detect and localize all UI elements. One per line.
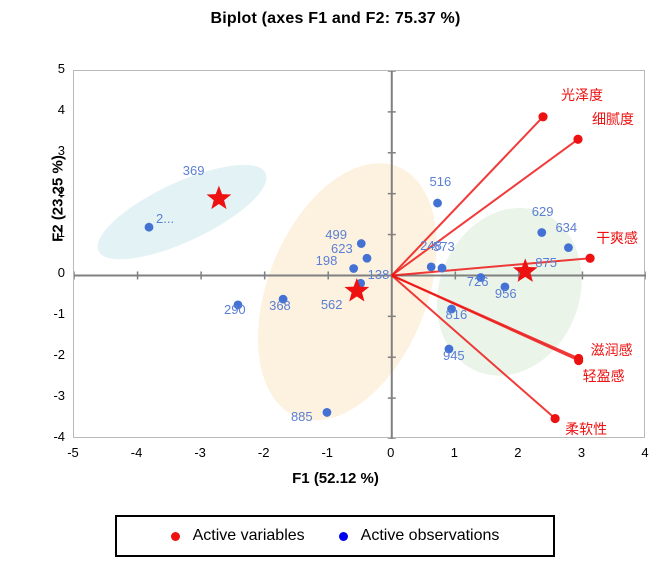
y-tick-label: 3 [37,143,65,158]
observation-label: 499 [325,227,347,242]
observation-label: 290 [224,302,246,317]
y-tick-label: 2 [37,184,65,199]
y-tick-label: -3 [37,388,65,403]
observation-point [349,264,358,273]
observation-label: 516 [430,174,452,189]
observation-label: 945 [443,348,465,363]
observation-label: 885 [291,409,313,424]
x-tick-label: -4 [122,445,152,460]
legend-item-active-observations: Active observations [339,527,500,545]
observation-label: 634 [555,220,577,235]
observation-point [564,243,573,252]
y-tick-label: 4 [37,102,65,117]
legend-item-active-variables: Active variables [171,527,305,545]
variable-label: 光泽度 [561,85,603,105]
variable-point [538,112,547,121]
variable-label: 干爽感 [596,228,638,248]
plot-area: 3692...516499623198248573629634138726956… [73,70,645,438]
legend-label-active-variables: Active variables [193,527,305,545]
x-tick-label: 3 [566,445,596,460]
legend-swatch-red-dot-icon [171,532,180,541]
x-tick-label: 0 [376,445,406,460]
observation-label: 956 [495,286,517,301]
variable-point [574,356,583,365]
legend: Active variables Active observations [115,515,555,557]
variable-label: 柔软性 [565,419,607,439]
variable-point [551,414,560,423]
observation-point [438,264,447,273]
x-tick-label: 1 [439,445,469,460]
observation-label: 875 [535,255,557,270]
x-tick-label: -5 [58,445,88,460]
observation-label: 369 [183,163,205,178]
observation-point [145,223,154,232]
page-title: Biplot (axes F1 and F2: 75.37 %) [0,10,671,28]
observation-point [323,408,332,417]
plot-svg [74,71,646,439]
variable-point [573,135,582,144]
variable-label: 滋润感 [591,340,633,360]
legend-label-active-observations: Active observations [361,527,500,545]
y-tick-label: -1 [37,306,65,321]
y-tick-label: 5 [37,61,65,76]
observation-point [357,239,366,248]
observation-label: 198 [316,253,338,268]
observation-point [427,262,436,271]
variable-label: 轻盈感 [583,366,625,386]
variable-label: 细腻度 [592,109,634,129]
y-tick-label: -2 [37,347,65,362]
observation-point [537,228,546,237]
observation-label: 629 [532,204,554,219]
observation-label: 816 [446,307,468,322]
variable-point [585,254,594,263]
y-tick-label: -4 [37,429,65,444]
observation-label: 2... [156,211,174,226]
legend-swatch-blue-dot-icon [339,532,348,541]
observation-label: 573 [433,239,455,254]
y-tick-label: 0 [37,265,65,280]
observation-label: 368 [269,298,291,313]
x-tick-label: 2 [503,445,533,460]
observation-label: 562 [321,297,343,312]
observation-point [363,254,372,263]
x-tick-label: 4 [630,445,660,460]
observation-label: 726 [467,274,489,289]
x-tick-label: -1 [312,445,342,460]
x-axis-title: F1 (52.12 %) [0,470,671,487]
observation-point [433,199,442,208]
observation-label: 138 [368,267,390,282]
y-tick-label: 1 [37,225,65,240]
x-tick-label: -3 [185,445,215,460]
x-tick-label: -2 [249,445,279,460]
